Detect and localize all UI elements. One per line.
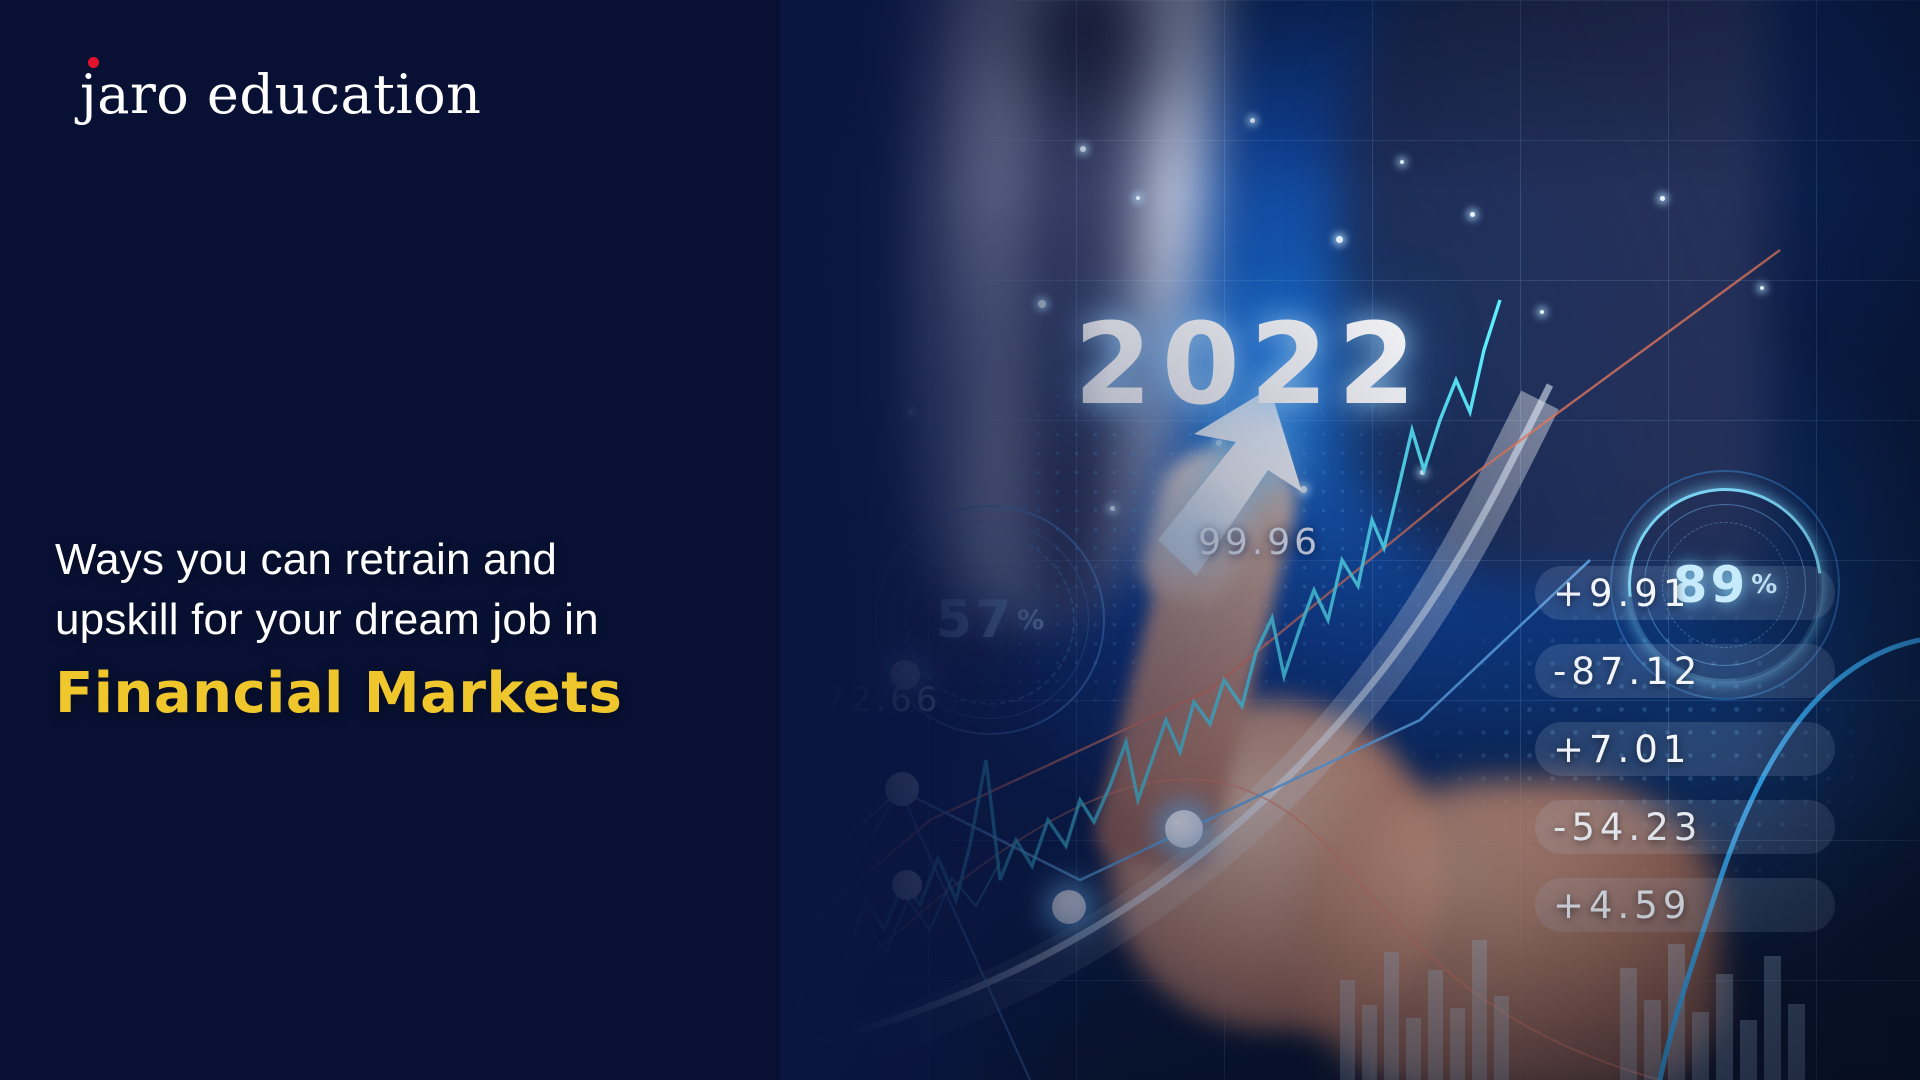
readout-row: +9.91 [1535,560,1875,626]
readout-row: -87.12 [1535,638,1875,704]
bar-chart-cluster [1340,940,1805,1080]
gauge-left-value: 57 [936,590,1014,650]
chart-node [1052,890,1086,924]
year-label: 2022 [1074,300,1426,430]
chart-node [892,870,922,900]
headline-line-1: Ways you can retrain and [55,530,885,590]
headline-accent: Financial Markets [55,662,885,726]
hero-background-image: 2022 57% 89% 99.96 72.66 43.21 [780,0,1920,1080]
headline-block: Ways you can retrain and upskill for you… [55,530,885,725]
data-readout-list: +9.91 -87.12 +7.01 -54.23 +4.59 [1535,560,1875,950]
readout-value: +9.91 [1553,572,1691,615]
gauge-left-unit: % [1017,605,1044,636]
brand-name: jaro education [80,68,481,122]
left-text-panel: jaro education Ways you can retrain and … [0,0,900,1080]
readout-value: -54.23 [1553,806,1702,849]
marketing-banner: 2022 57% 89% 99.96 72.66 43.21 [0,0,1920,1080]
readout-row: +4.59 [1535,872,1875,938]
logo-red-dot-icon [88,57,99,68]
brand-logo[interactable]: jaro education [80,68,481,122]
headline-line-2: upskill for your dream job in [55,590,885,650]
readout-value: -87.12 [1553,650,1702,693]
readout-row: -54.23 [1535,794,1875,860]
peak-value-label: 99.96 [1198,522,1321,563]
readout-value: +4.59 [1553,884,1691,927]
readout-row: +7.01 [1535,716,1875,782]
chart-node [885,772,919,806]
readout-value: +7.01 [1553,728,1691,771]
chart-node [1165,810,1203,848]
